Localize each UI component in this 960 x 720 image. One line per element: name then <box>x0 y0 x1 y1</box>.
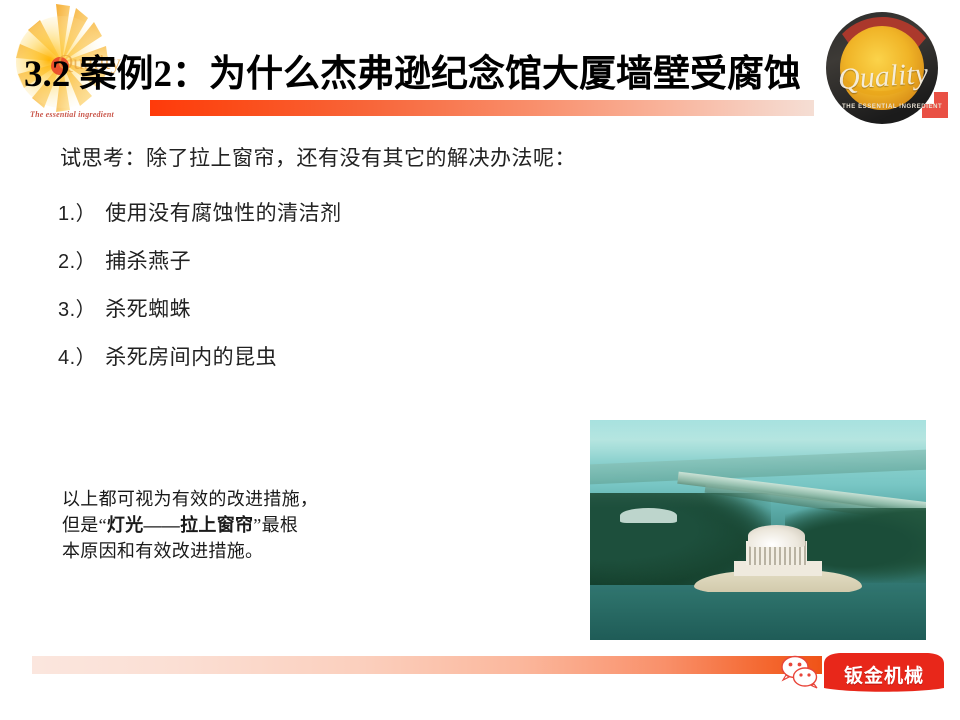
footer-bar <box>32 656 822 674</box>
list-item-number: 3.） <box>58 299 96 321</box>
list-item-number: 1.） <box>58 203 96 225</box>
slide-canvas: { "slide": { "title": "3.2 案例2：为什么杰弗逊纪念馆… <box>0 0 960 720</box>
brand-name: 钣金机械 <box>818 661 950 688</box>
photo-haze-overlay <box>590 420 926 640</box>
conclusion-line-2-suffix: ”最根 <box>253 515 298 535</box>
title-underline-bar <box>150 100 814 116</box>
list-item-label: 杀死蜘蛛 <box>105 297 191 321</box>
sun-logo-tagline: The essential ingredient <box>30 110 114 119</box>
list-item: 3.）杀死蜘蛛 <box>58 286 342 334</box>
conclusion-paragraph: 以上都可视为有效的改进措施， 但是“灯光——拉上窗帘”最根 本原因和有效改进措施… <box>62 486 392 564</box>
wechat-icon <box>778 655 822 691</box>
badge-logo-subtitle: THE ESSENTIAL INGREDIENT <box>842 104 934 110</box>
conclusion-emphasis: 灯光——拉上窗帘 <box>107 515 253 535</box>
list-item: 2.）捕杀燕子 <box>58 238 342 286</box>
conclusion-line-3: 本原因和有效改进措施。 <box>62 541 263 561</box>
list-item-label: 捕杀燕子 <box>105 249 191 273</box>
list-item-number: 2.） <box>58 251 96 273</box>
question-text: 试思考：除了拉上窗帘，还有没有其它的解决办法呢： <box>60 142 576 172</box>
jefferson-memorial-photo <box>590 420 926 640</box>
page-title: 3.2 案例2：为什么杰弗逊纪念馆大厦墙壁受腐蚀 <box>24 51 936 99</box>
conclusion-line-2-prefix: 但是“ <box>62 515 107 535</box>
brand-banner: 钣金机械 <box>818 652 950 694</box>
answer-list: 1.）使用没有腐蚀性的清洁剂 2.）捕杀燕子 3.）杀死蜘蛛 4.）杀死房间内的… <box>58 190 342 382</box>
list-item: 4.）杀死房间内的昆虫 <box>58 334 342 382</box>
conclusion-line-1: 以上都可视为有效的改进措施， <box>62 489 318 509</box>
list-item: 1.）使用没有腐蚀性的清洁剂 <box>58 190 342 238</box>
list-item-number: 4.） <box>58 347 96 369</box>
list-item-label: 使用没有腐蚀性的清洁剂 <box>105 201 342 225</box>
list-item-label: 杀死房间内的昆虫 <box>105 345 277 369</box>
